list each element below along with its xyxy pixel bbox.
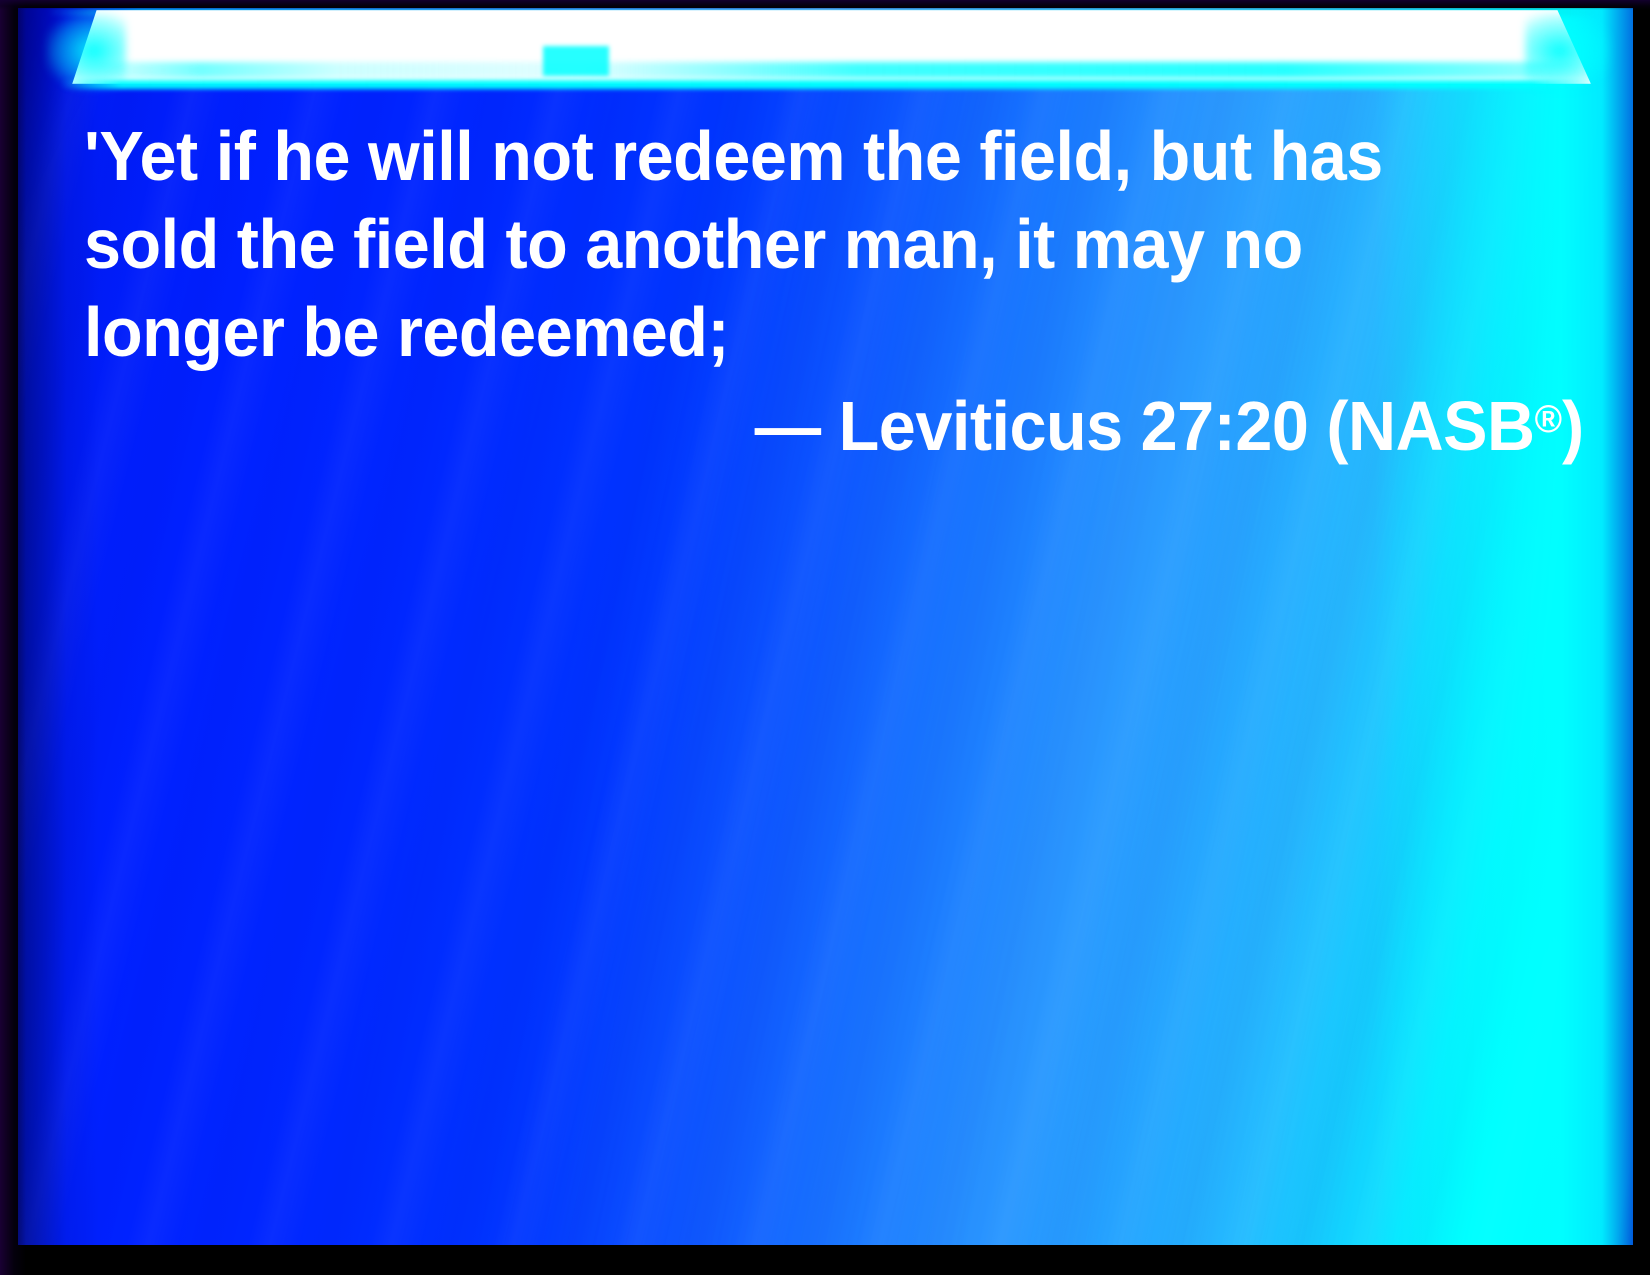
- header-cyan-underline: [60, 80, 1593, 89]
- verse-text-block: 'Yet if he will not redeem the field, bu…: [84, 112, 1584, 376]
- frame-left-tint: [0, 0, 26, 1275]
- frame-top-tint: [0, 0, 1650, 10]
- header-white-bar: [63, 10, 1591, 84]
- header-right-cyan-glow: [1525, 12, 1611, 90]
- background-artwork: 'Yet if he will not redeem the field, bu…: [18, 8, 1633, 1245]
- verse-line-2: sold the field to another man, it may no: [84, 200, 1509, 288]
- verse-attribution: — Leviticus 27:20 (NASB®): [84, 376, 1592, 470]
- attribution-line: — Leviticus 27:20 (NASB®): [755, 376, 1584, 470]
- verse-slide: 'Yet if he will not redeem the field, bu…: [0, 0, 1650, 1275]
- header-cyan-notch: [543, 46, 609, 76]
- verse-line-3: longer be redeemed;: [84, 288, 1509, 376]
- frame-bottom-border: [0, 1245, 1650, 1275]
- attribution-prefix: — Leviticus 27:20 (NASB: [755, 387, 1535, 465]
- header-left-cyan-glow: [46, 12, 126, 90]
- registered-trademark-icon: ®: [1535, 398, 1562, 441]
- header-band: [18, 8, 1633, 94]
- frame-right-border: [1633, 0, 1650, 1275]
- attribution-suffix: ): [1562, 387, 1584, 465]
- verse-line-1: 'Yet if he will not redeem the field, bu…: [84, 112, 1509, 200]
